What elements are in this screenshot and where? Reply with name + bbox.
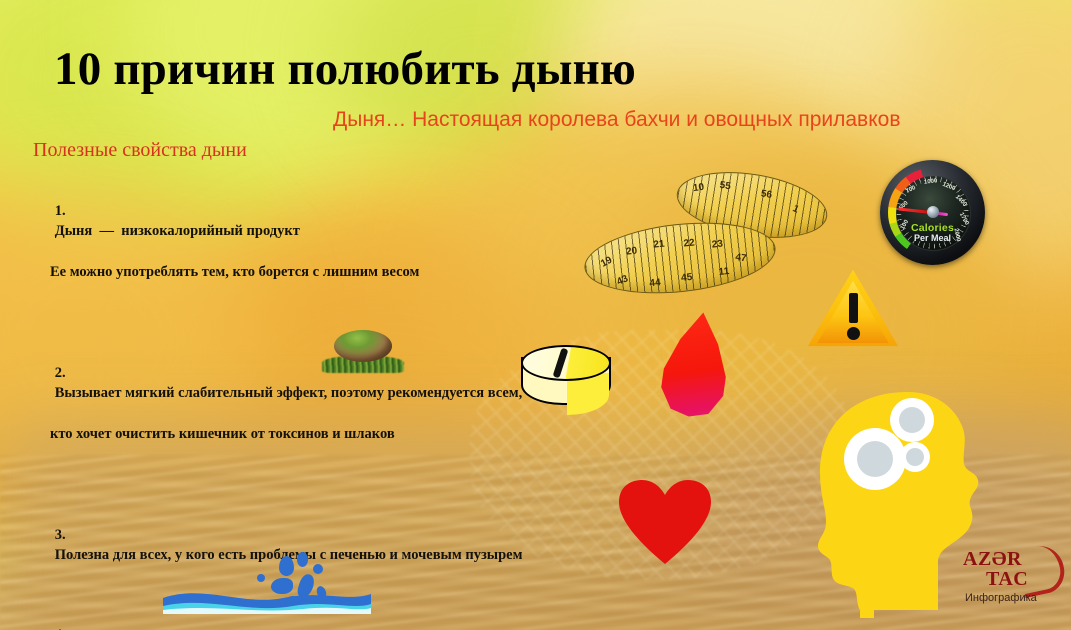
gear-hole <box>899 407 925 433</box>
tape-number: 10 <box>692 182 704 194</box>
tape-number: 55 <box>719 180 732 193</box>
heart-shape <box>619 480 711 564</box>
list-item: 1. Дыня — низкокалорийный продукт Ее мож… <box>33 180 673 324</box>
azertac-logo: AZƏR TAC Инфографика <box>963 548 1063 610</box>
gear-icon <box>844 428 906 490</box>
heart-icon <box>619 480 711 564</box>
stone-shape <box>334 330 392 362</box>
gear-icon <box>900 442 930 472</box>
gauge-label-per-meal: Per Meal <box>880 233 985 243</box>
gear-hole <box>857 441 893 477</box>
list-item-text-line2: кто хочет очистить кишечник от токсинов … <box>33 424 673 445</box>
gauge-hub <box>927 206 939 218</box>
list-item-text: Вызывает мягкий слабительный эффект, поэ… <box>55 385 523 401</box>
logo-subtitle: Инфографика <box>965 592 1037 604</box>
pill-icon <box>519 345 611 409</box>
section-heading: Полезные свойства дыни <box>33 139 247 162</box>
blood-drop-icon <box>662 312 730 417</box>
logo-line-tac: TAC <box>986 568 1028 591</box>
water-droplet <box>257 574 265 582</box>
tape-ticks <box>582 215 778 300</box>
exclamation-dot <box>847 327 860 340</box>
tape-number: 47 <box>735 252 748 264</box>
warning-triangle-icon <box>806 267 900 353</box>
tape-number: 44 <box>649 277 661 289</box>
infographic-poster: 10 причин полюбить дыню Дыня… Настоящая … <box>0 0 1071 630</box>
tape-number: 22 <box>683 237 695 249</box>
tape-number: 45 <box>681 272 693 284</box>
water-droplet <box>313 564 323 574</box>
tape-number: 56 <box>760 188 773 201</box>
gear-hole <box>906 448 924 466</box>
list-item-number: 1. <box>55 203 66 219</box>
list-item-text: Дыня — низкокалорийный продукт <box>55 223 300 239</box>
tape-number: 23 <box>711 238 723 250</box>
water-waves <box>163 584 371 614</box>
page-subtitle: Дыня… Настоящая королева бахчи и овощных… <box>333 108 900 132</box>
calorie-gauge-icon: 100 500 700 1000 1200 1400 1700 2000 Cal… <box>880 160 985 265</box>
water-splash-icon <box>163 552 371 614</box>
list-item-text-line2: Ее можно употреблять тем, кто борется с … <box>33 262 673 283</box>
list-item-number: 3. <box>55 527 66 543</box>
measuring-tape-icon: 10 55 56 1 19 20 21 22 23 43 44 45 47 11 <box>578 172 783 297</box>
kidney-stone-icon <box>322 325 404 373</box>
pill-top <box>521 345 611 381</box>
tape-number: 20 <box>626 245 638 257</box>
gear-icon <box>890 398 934 442</box>
list-item-number: 2. <box>55 365 66 381</box>
head-neck <box>860 606 874 618</box>
page-title: 10 причин полюбить дыню <box>54 42 636 96</box>
water-droplet <box>279 556 294 576</box>
tape-loop-lower: 19 20 21 22 23 43 44 45 47 11 <box>581 214 779 302</box>
blood-drop-shape <box>655 308 737 421</box>
tape-number: 11 <box>718 266 730 278</box>
exclamation-bar <box>849 293 858 323</box>
pill-score-line <box>553 348 569 379</box>
water-droplet <box>297 552 308 567</box>
tape-number: 21 <box>653 239 665 251</box>
